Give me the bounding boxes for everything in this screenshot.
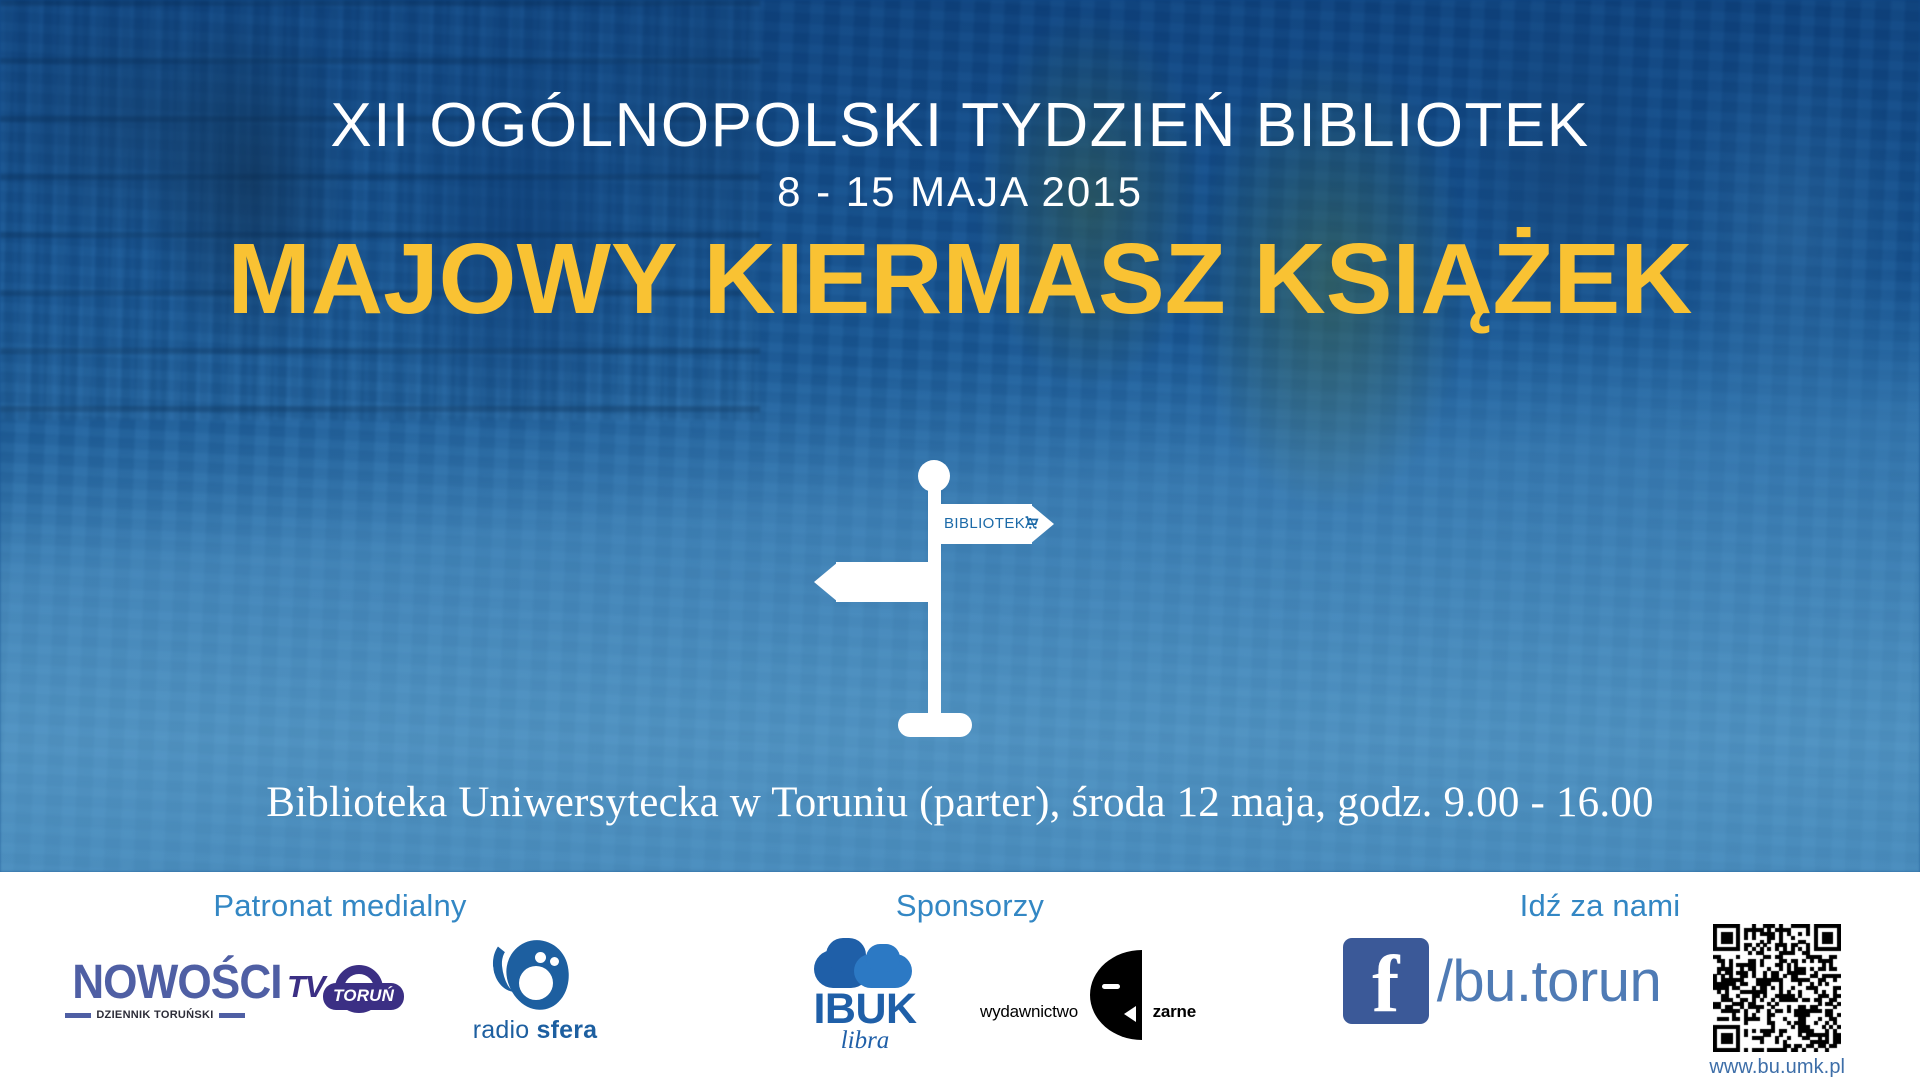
- radio-sfera-wordmark: radio sfera: [455, 1016, 615, 1045]
- facebook-icon[interactable]: f: [1343, 938, 1429, 1024]
- event-dates: 8 - 15 MAJA 2015: [0, 171, 1920, 213]
- czarne-face-icon: [1090, 950, 1142, 1040]
- event-series-title: XII OGÓLNOPOLSKI TYDZIEŃ BIBLIOTEK: [0, 95, 1920, 157]
- venue-details: Biblioteka Uniwersytecka w Toruniu (part…: [0, 778, 1920, 827]
- shopping-cart-icon: [1025, 516, 1039, 530]
- sponsors-heading: Sponsorzy: [760, 888, 1180, 924]
- nowosci-rule-left: [65, 1013, 91, 1018]
- follow-us-heading: Idź za nami: [1280, 888, 1920, 924]
- sign-blank-body: [836, 562, 939, 602]
- facebook-f-glyph: f: [1372, 943, 1399, 1025]
- tv-torun-logo[interactable]: TV TORUŃ: [285, 959, 415, 1023]
- radio-sfera-mark: [489, 936, 581, 1014]
- radio-sfera-word-bold: sfera: [536, 1016, 597, 1044]
- media-patronage-heading: Patronat medialny: [0, 888, 680, 924]
- radio-sfera-word-light: radio: [473, 1016, 537, 1044]
- signpost-base: [898, 713, 972, 737]
- headline-block: XII OGÓLNOPOLSKI TYDZIEŃ BIBLIOTEK 8 - 1…: [0, 0, 1920, 329]
- nowosci-subtitle: DZIENNIK TORUŃSKI: [96, 1009, 213, 1021]
- tv-torun-tv-mark: TV: [287, 969, 325, 1005]
- footer-column-media-patronage: Patronat medialny NOWOŚCI DZIENNIK TORUŃ…: [0, 872, 680, 1080]
- radio-sfera-dot-small: [550, 957, 559, 966]
- follow-us-content: f /bu.torun www.bu.umk.pl: [1280, 924, 1920, 1079]
- sign-blank-arrow: [814, 562, 838, 602]
- radio-sfera-logo[interactable]: radio sfera: [455, 936, 615, 1045]
- sign-blank: [814, 562, 939, 602]
- czarne-word-czarne: zarne: [1153, 1002, 1196, 1022]
- czarne-word-wydawnictwo: wydawnictwo: [980, 1002, 1078, 1022]
- ibuk-cloud-part-4: [866, 944, 900, 972]
- nowosci-subtitle-row: DZIENNIK TORUŃSKI: [65, 1009, 245, 1021]
- main-title: MAJOWY KIERMASZ KSIĄŻEK: [0, 229, 1920, 329]
- media-patronage-logos: NOWOŚCI DZIENNIK TORUŃSKI TV TORUŃ: [0, 936, 680, 1045]
- sign-biblioteka: BIBLIOTEKA: [936, 504, 1054, 544]
- footer-bar: Patronat medialny NOWOŚCI DZIENNIK TORUŃ…: [0, 872, 1920, 1080]
- facebook-block[interactable]: f /bu.torun: [1343, 934, 1661, 1024]
- qr-block[interactable]: www.bu.umk.pl: [1697, 924, 1857, 1079]
- qr-code[interactable]: [1713, 924, 1841, 1052]
- qr-code-canvas: [1713, 924, 1841, 1052]
- facebook-handle: /bu.torun: [1437, 948, 1661, 1015]
- radio-sfera-hole: [519, 966, 553, 1000]
- czarne-mouth: [1124, 1006, 1136, 1022]
- sponsors-logos: IBUK libra wydawnictwo zarne: [760, 936, 1180, 1055]
- czarne-eye: [1102, 984, 1120, 989]
- nowosci-logo[interactable]: NOWOŚCI DZIENNIK TORUŃSKI: [65, 960, 245, 1022]
- poster: XII OGÓLNOPOLSKI TYDZIEŃ BIBLIOTEK 8 - 1…: [0, 0, 1920, 1080]
- nowosci-rule-right: [219, 1013, 245, 1018]
- tv-torun-badge: TORUŃ: [323, 983, 404, 1010]
- facebook-row: f /bu.torun: [1343, 938, 1661, 1024]
- wydawnictwo-czarne-logo[interactable]: wydawnictwo zarne: [980, 950, 1150, 1040]
- ibuk-libra-logo[interactable]: IBUK libra: [790, 936, 940, 1055]
- signpost-graphic: BIBLIOTEKA: [880, 460, 1080, 760]
- ibuk-wordmark: IBUK: [790, 990, 940, 1030]
- qr-caption-url: www.bu.umk.pl: [1697, 1056, 1857, 1079]
- footer-column-sponsors: Sponsorzy IBUK libra: [760, 872, 1180, 1080]
- ibuk-cloud-icon: [810, 936, 920, 992]
- radio-sfera-dot-large: [535, 952, 546, 963]
- footer-column-follow-us: Idź za nami f /bu.torun: [1280, 872, 1920, 1080]
- nowosci-wordmark: NOWOŚCI: [72, 960, 238, 1006]
- sign-biblioteka-label: BIBLIOTEKA: [944, 515, 1036, 532]
